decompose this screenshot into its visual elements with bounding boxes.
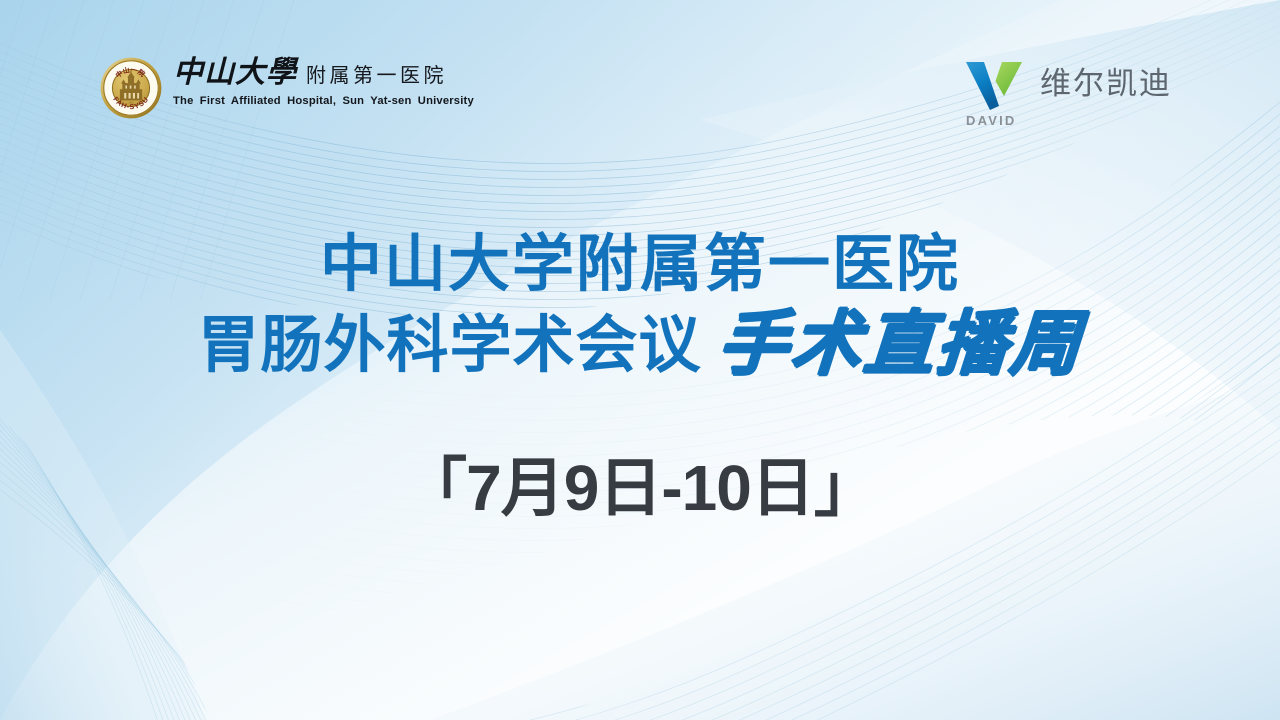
title-line-event: 胃肠外科学术会议手术直播周 <box>0 311 1280 381</box>
hospital-logo-left: 1910 中山一院 FAH-SYSU 中山大學 附属第一医院 The First… <box>100 55 474 140</box>
title-block: 中山大学附属第一医院 胃肠外科学术会议手术直播周 <box>0 232 1280 381</box>
university-name-block: 中山大學 附属第一医院 The First Affiliated Hospita… <box>173 55 474 107</box>
title-line-hospital: 中山大学附属第一医院 <box>0 232 1280 299</box>
conference-title-slide: 1910 中山一院 FAH-SYSU 中山大學 附属第一医院 The First… <box>0 0 1280 720</box>
david-brand-chinese: 维尔凯迪 <box>1040 68 1172 99</box>
hospital-name-chinese: 附属第一医院 <box>306 66 447 86</box>
event-name-text: 胃肠外科学术会议 <box>197 311 701 380</box>
david-v-logo-icon: DAVID <box>964 60 1026 126</box>
sponsor-logo-right: DAVID 维尔凯迪 <box>964 60 1172 140</box>
university-seal-icon: 1910 中山一院 FAH-SYSU <box>100 57 162 119</box>
university-name-chinese: 中山大學 <box>173 58 297 88</box>
live-surgery-week-text: 手术直播周 <box>715 311 1085 381</box>
david-wordmark: DAVID <box>966 114 1016 127</box>
event-date-text: 「7月9日-10日」 <box>0 456 1280 520</box>
hospital-name-english: The First Affiliated Hospital, Sun Yat-s… <box>173 95 474 107</box>
